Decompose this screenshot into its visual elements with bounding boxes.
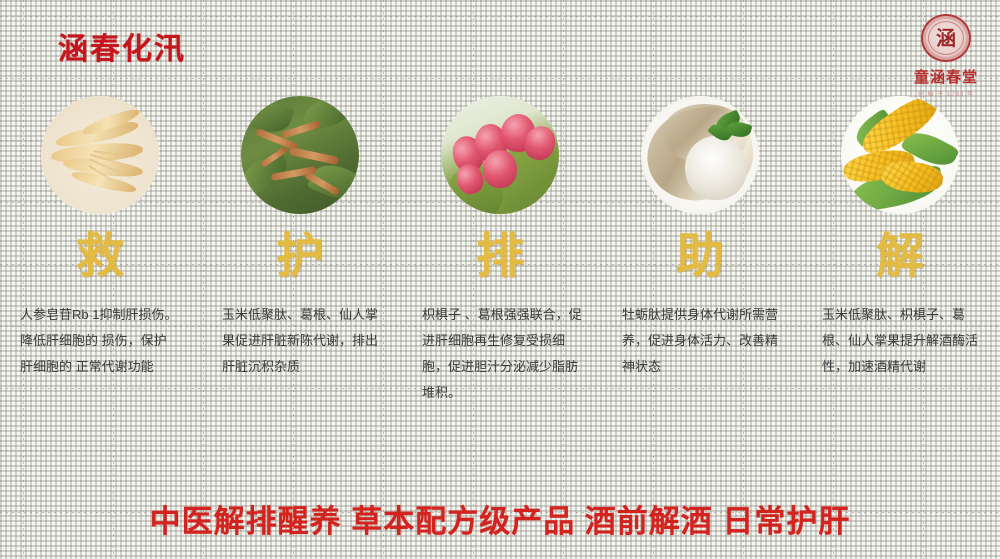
benefit-char: 排 xyxy=(400,232,600,280)
benefit-columns: 救 人参皂苷Rb 1抑制肝损伤。降低肝细胞的 损伤，保护肝细胞的 正常代谢功能 xyxy=(0,96,1000,496)
seal-glyph: 涵 xyxy=(936,28,956,48)
benefit-column: 护 玉米低聚肽、葛根、仙人掌果促进肝脏新陈代谢，排出肝脏沉积杂质 xyxy=(200,96,400,496)
benefit-char: 助 xyxy=(600,232,800,280)
brand-logo: 涵 童涵春堂 创 始 于 1783 年 xyxy=(904,14,988,98)
poster-canvas: 涵春化汛 涵 童涵春堂 创 始 于 1783 年 xyxy=(0,0,1000,559)
brand-name: 童涵春堂 xyxy=(914,66,978,87)
seal-icon: 涵 xyxy=(921,14,971,62)
benefit-char: 解 xyxy=(800,232,1000,280)
benefit-column: 救 人参皂苷Rb 1抑制肝损伤。降低肝细胞的 损伤，保护肝细胞的 正常代谢功能 xyxy=(0,96,200,496)
benefit-column: 排 枳椇子 、葛根强强联合，促进肝细胞再生修复受损细胞，促进胆汁分泌减少脂肪堆积… xyxy=(400,96,600,496)
benefit-column: 解 玉米低聚肽、枳椇子、葛根、仙人掌果提升解酒酶活性，加速酒精代谢 xyxy=(800,96,1000,496)
tagline: 中医解排醒养 草本配方级产品 酒前解酒 日常护肝 xyxy=(0,496,1000,541)
cactus-fruit-photo xyxy=(441,96,559,214)
oyster-photo xyxy=(641,96,759,214)
benefit-description: 牡蛎肽提供身体代谢所需营养，促进身体活力、改善精神状态 xyxy=(622,302,782,380)
benefit-description: 人参皂苷Rb 1抑制肝损伤。降低肝细胞的 损伤，保护肝细胞的 正常代谢功能 xyxy=(20,302,178,380)
benefit-char: 救 xyxy=(0,232,200,280)
benefit-description: 枳椇子 、葛根强强联合，促进肝细胞再生修复受损细胞，促进胆汁分泌减少脂肪堆积。 xyxy=(422,302,582,406)
hovenia-photo xyxy=(241,96,359,214)
benefit-column: 助 牡蛎肽提供身体代谢所需营养，促进身体活力、改善精神状态 xyxy=(600,96,800,496)
benefit-char: 护 xyxy=(200,232,400,280)
ginseng-photo xyxy=(41,96,159,214)
page-title: 涵春化汛 xyxy=(58,24,186,68)
benefit-description: 玉米低聚肽、葛根、仙人掌果促进肝脏新陈代谢，排出肝脏沉积杂质 xyxy=(222,302,382,380)
benefit-description: 玉米低聚肽、枳椇子、葛根、仙人掌果提升解酒酶活性，加速酒精代谢 xyxy=(822,302,988,380)
corn-photo xyxy=(841,96,959,214)
